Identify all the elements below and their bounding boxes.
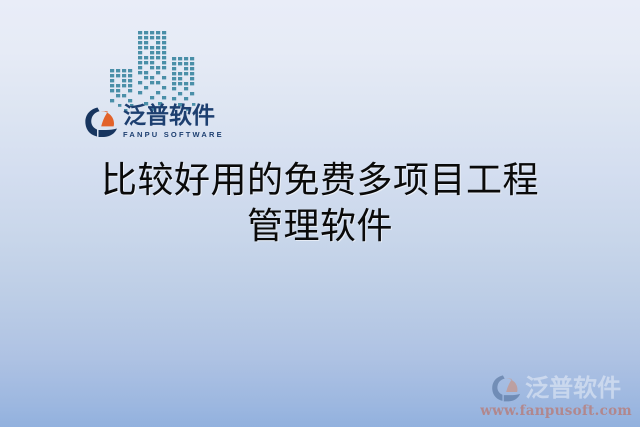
watermark: 泛普软件 www.fanpusoft.com bbox=[480, 374, 632, 419]
dotted-buildings-icon bbox=[108, 26, 200, 112]
brand-logo: 泛普软件 FANPU SOFTWARE bbox=[84, 105, 224, 139]
watermark-url: www.fanpusoft.com bbox=[480, 403, 632, 419]
brand-name-en: FANPU SOFTWARE bbox=[123, 131, 224, 139]
page-title: 比较好用的免费多项目工程 管理软件 bbox=[0, 158, 640, 250]
fanpu-emblem-icon bbox=[84, 106, 118, 138]
brand-logo-text: 泛普软件 FANPU SOFTWARE bbox=[123, 105, 224, 139]
watermark-brand-name: 泛普软件 bbox=[525, 376, 621, 400]
page-title-line-1: 比较好用的免费多项目工程 bbox=[0, 158, 640, 204]
watermark-logo-row: 泛普软件 bbox=[491, 374, 621, 402]
brand-name-cn: 泛普软件 bbox=[123, 105, 224, 128]
page-title-line-2: 管理软件 bbox=[0, 204, 640, 250]
slide-canvas: 泛普软件 FANPU SOFTWARE 比较好用的免费多项目工程 管理软件 泛普… bbox=[0, 0, 640, 427]
watermark-fanpu-emblem-icon bbox=[491, 374, 521, 402]
